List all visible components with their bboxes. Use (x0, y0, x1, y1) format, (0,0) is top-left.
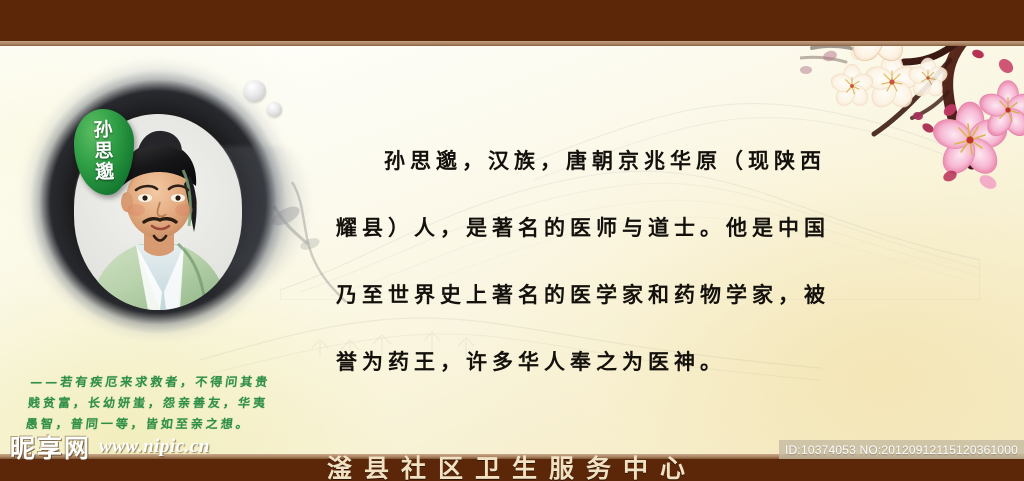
top-band-edge (0, 41, 1024, 46)
quote-line-2: 贱贫富，长幼妍蚩，怨亲善友，华夷 (27, 393, 319, 414)
badge-char-3: 邈 (95, 163, 115, 184)
biography-line-2: 耀县）人，是著名的医师与道士。他是中国 (336, 195, 972, 262)
badge-char-1: 孙 (93, 121, 113, 142)
badge-text: 孙 思 邈 (73, 108, 136, 196)
watermark-url: www.nipic.cn (99, 436, 210, 458)
image-id-strip: ID:10374053 NO:20120912115120361000 (779, 440, 1024, 459)
watermark-site-name: 昵享网 (10, 429, 91, 465)
nipic-watermark: 昵享网 www.nipic.cn (10, 429, 210, 465)
poster-canvas: 孙 思 邈 孙思邈，汉族，唐朝京兆华原（现陕西 耀县）人，是著名的医师与道士。他… (0, 0, 1024, 481)
calligraphy-quote: ——若有疾厄来求救者，不得问其贵 贱贫富，长幼妍蚩，怨亲善友，华夷 愚智，普同一… (25, 372, 322, 435)
top-brown-band (0, 0, 1024, 41)
portrait-ink-circle: 孙 思 邈 (22, 62, 294, 342)
badge-char-2: 思 (94, 142, 114, 163)
ink-bubble-small (267, 102, 282, 117)
biography-line-3: 乃至世界史上著名的医学家和药物学家，被 (336, 262, 972, 329)
name-badge: 孙 思 邈 (74, 109, 134, 195)
biography-line-4: 誉为药王，许多华人奉之为医神。 (336, 329, 972, 396)
quote-line-1: ——若有疾厄来求救者，不得问其贵 (29, 372, 321, 393)
image-id-text: ID:10374053 NO:20120912115120361000 (785, 443, 1018, 457)
ink-bubble-large (244, 80, 266, 102)
